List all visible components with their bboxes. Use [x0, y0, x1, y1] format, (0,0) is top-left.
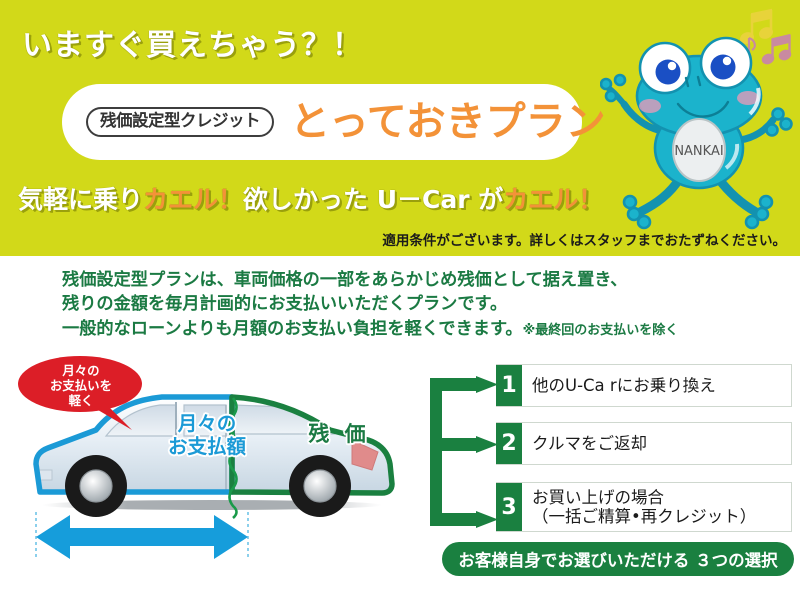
description-text: 残価設定型プランは、車両価格の一部をあらかじめ残価として据え置き、 残りの金額を…: [62, 268, 678, 341]
option-row-2[interactable]: 2 クルマをご返却: [496, 422, 792, 465]
option-row-3[interactable]: 3 お買い上げの場合 （一括ご精算•再クレジット）: [496, 482, 792, 532]
frog-right-pupil: [711, 55, 736, 80]
description-line-3: 一般的なローンよりも月額のお支払い負担を軽くできます。: [62, 319, 523, 339]
option-number-3: 3: [496, 483, 522, 531]
tagline-kaeru-1: カエル！: [143, 185, 243, 214]
description-line-2: 残りの金額を毎月計画的にお支払いいただくプランです。: [62, 292, 678, 316]
plan-name-text: とっておきプラン: [290, 102, 606, 142]
option-3-line-1: お買い上げの場合: [532, 488, 791, 507]
bubble-line-1: 月々の: [22, 364, 140, 379]
tagline-text: 気軽に乗りカエル！欲しかった U－Car がカエル！: [18, 180, 603, 216]
frog-mascot: NANKAI: [600, 18, 800, 233]
header-banner: いますぐ買えちゃう？！ 残価設定型クレジット とっておきプラン 気軽に乗りカエル…: [0, 0, 800, 256]
credit-type-badge: 残価設定型クレジット: [86, 107, 274, 137]
tagline-kaeru-2: カエル！: [503, 185, 603, 214]
option-text-2: クルマをご返却: [522, 423, 791, 464]
plan-title-plate: 残価設定型クレジット とっておきプラン: [62, 84, 582, 160]
description-line-3-wrap: 一般的なローンよりも月額のお支払い負担を軽くできます。※最終回のお支払いを除く: [62, 317, 678, 341]
burden-amount-label: ご負担額: [60, 544, 260, 571]
options-panel: 1 他のU-Ca rにお乗り換え 2 クルマをご返却 3 お買い上げの場合 （一…: [430, 360, 800, 600]
options-banner: お客様自身でお選びいただける ３つの選択: [442, 542, 794, 576]
speech-bubble-text: 月々の お支払いを 軽く: [22, 364, 140, 409]
frog-left-pupil: [656, 60, 681, 85]
mascot-name-text: NANKAI: [674, 144, 723, 159]
tagline-part-2: 欲しかった U－Car が: [243, 185, 503, 214]
tagline-part-1: 気軽に乗り: [18, 185, 143, 214]
option-number-2: 2: [496, 423, 522, 464]
advertisement-root: いますぐ買えちゃう？！ 残価設定型クレジット とっておきプラン 気軽に乗りカエル…: [0, 0, 800, 600]
option-1-line-1: 他のU-Ca rにお乗り換え: [532, 376, 791, 395]
monthly-payment-line-2: お支払額: [142, 435, 272, 458]
description-line-1: 残価設定型プランは、車両価格の一部をあらかじめ残価として据え置き、: [62, 268, 678, 292]
option-text-1: 他のU-Ca rにお乗り換え: [522, 365, 791, 406]
monthly-payment-label: 月々の お支払額: [142, 412, 272, 458]
car-wheel-front: [65, 455, 127, 517]
description-note: ※最終回のお支払いを除く: [523, 323, 679, 338]
car-wheel-rear: [289, 455, 351, 517]
bubble-line-2: お支払いを: [22, 379, 140, 394]
bubble-line-3: 軽く: [22, 394, 140, 409]
option-3-line-2: （一括ご精算•再クレジット）: [532, 507, 791, 526]
headline-text: いますぐ買えちゃう？！: [22, 20, 363, 64]
option-row-1[interactable]: 1 他のU-Ca rにお乗り換え: [496, 364, 792, 407]
option-2-line-1: クルマをご返却: [532, 434, 791, 453]
monthly-payment-line-1: 月々の: [142, 412, 272, 435]
residual-value-label: 残 価: [284, 418, 394, 448]
option-number-1: 1: [496, 365, 522, 406]
option-text-3: お買い上げの場合 （一括ご精算•再クレジット）: [522, 483, 791, 531]
